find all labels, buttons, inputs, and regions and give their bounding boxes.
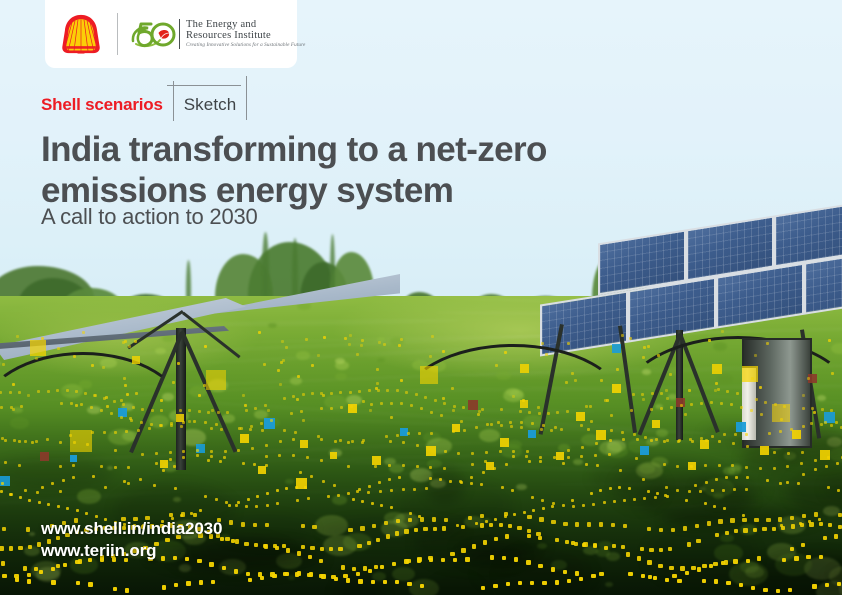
pixel-dot bbox=[159, 424, 162, 427]
pixel-dot bbox=[347, 492, 350, 495]
pixel-dot bbox=[537, 406, 540, 409]
pixel-dot bbox=[380, 565, 384, 569]
pixel-dot bbox=[113, 400, 116, 403]
pixel-dot bbox=[830, 424, 833, 427]
pixel-dot bbox=[114, 449, 117, 452]
pixel-dot bbox=[468, 516, 472, 520]
pixel-dot bbox=[141, 408, 144, 411]
pixel-dot bbox=[46, 438, 49, 441]
pixel-dot bbox=[500, 424, 503, 427]
pixel-dot bbox=[210, 450, 213, 453]
pixel-dot bbox=[814, 512, 818, 516]
pixel-square bbox=[640, 446, 649, 455]
pixel-dot bbox=[483, 540, 487, 544]
pixel-dot bbox=[63, 563, 67, 567]
pixel-dot bbox=[838, 513, 842, 517]
pixel-dot bbox=[531, 422, 534, 425]
pixel-dot bbox=[722, 489, 725, 492]
pixel-square bbox=[556, 452, 564, 460]
pixel-dot bbox=[554, 426, 557, 429]
pixel-dot bbox=[818, 518, 821, 521]
pixel-dot bbox=[718, 440, 721, 443]
pixel-dot bbox=[644, 436, 647, 439]
pixel-dot bbox=[41, 337, 44, 340]
pixel-dot bbox=[390, 489, 393, 492]
pixel-dot bbox=[648, 575, 652, 579]
pixel-dot bbox=[172, 381, 175, 384]
pixel-dot bbox=[358, 579, 362, 583]
pixel-dot bbox=[301, 524, 305, 528]
pixel-dot bbox=[380, 402, 383, 405]
pixel-dot bbox=[472, 544, 476, 548]
pixel-dot bbox=[772, 527, 776, 531]
pixel-dot bbox=[489, 523, 493, 527]
pixel-dot bbox=[265, 523, 269, 527]
pixel-dot bbox=[174, 487, 177, 490]
pixel-dot bbox=[356, 353, 359, 356]
pixel-dot bbox=[329, 547, 333, 551]
pixel-dot bbox=[563, 570, 567, 574]
pixel-dot bbox=[125, 588, 129, 592]
pixel-dot bbox=[551, 567, 555, 571]
pixel-dot bbox=[574, 379, 577, 382]
pixel-dot bbox=[346, 578, 350, 582]
pixel-dot bbox=[253, 463, 256, 466]
pixel-dot bbox=[344, 337, 347, 340]
pixel-dot bbox=[369, 409, 372, 412]
pixel-dot bbox=[429, 477, 432, 480]
pixel-dot bbox=[575, 522, 579, 526]
pixel-dot bbox=[402, 488, 405, 491]
pixel-dot bbox=[538, 564, 542, 568]
pixel-dot bbox=[560, 428, 563, 431]
pixel-dot bbox=[181, 512, 185, 516]
pixel-dot bbox=[356, 572, 360, 576]
pixel-dot bbox=[717, 388, 720, 391]
pixel-dot bbox=[241, 522, 245, 526]
pixel-dot bbox=[746, 476, 749, 479]
pixel-dot bbox=[385, 435, 388, 438]
teri-tagline: Creating Innovative Solutions for a Sust… bbox=[186, 43, 305, 49]
pixel-dot bbox=[320, 459, 323, 462]
pixel-dot bbox=[123, 377, 126, 380]
pixel-dot bbox=[266, 492, 269, 495]
pixel-dot bbox=[169, 458, 172, 461]
pixel-dot bbox=[831, 372, 834, 375]
pixel-dot bbox=[72, 476, 75, 479]
pixel-dot bbox=[541, 499, 544, 502]
pixel-dot bbox=[90, 406, 93, 409]
pixel-dot bbox=[405, 391, 408, 394]
pixel-dot bbox=[367, 541, 371, 545]
pixel-dot bbox=[461, 525, 465, 529]
pixel-square bbox=[300, 440, 308, 448]
pixel-dot bbox=[527, 534, 531, 538]
pixel-dot bbox=[261, 429, 264, 432]
pixel-dot bbox=[56, 564, 60, 568]
pixel-dot bbox=[694, 484, 697, 487]
pixel-dot bbox=[302, 419, 305, 422]
pixel-dot bbox=[704, 464, 707, 467]
pixel-dot bbox=[371, 502, 374, 505]
pixel-dot bbox=[742, 518, 746, 522]
pixel-dot bbox=[424, 396, 427, 399]
pixel-dot bbox=[196, 454, 199, 457]
pixel-dot bbox=[361, 339, 364, 342]
pixel-dot bbox=[462, 406, 465, 409]
pixel-dot bbox=[506, 582, 510, 586]
pixel-dot bbox=[442, 350, 445, 353]
pixel-dot bbox=[196, 449, 199, 452]
pixel-dot bbox=[720, 402, 723, 405]
pixel-dot bbox=[480, 523, 484, 527]
pixel-dot bbox=[320, 438, 323, 441]
pixel-dot bbox=[547, 412, 550, 415]
pixel-dot bbox=[539, 456, 542, 459]
pixel-square bbox=[528, 430, 536, 438]
teri-name-line-2: Resources Institute bbox=[186, 30, 305, 41]
pixel-dot bbox=[225, 537, 229, 541]
pixel-dot bbox=[527, 515, 531, 519]
pixel-dot bbox=[260, 422, 263, 425]
pixel-dot bbox=[327, 495, 330, 498]
pixel-dot bbox=[511, 489, 514, 492]
page-title-line-1: India transforming to a net-zero bbox=[41, 130, 601, 171]
pixel-dot bbox=[351, 440, 354, 443]
pixel-dot bbox=[417, 558, 421, 562]
pixel-dot bbox=[690, 465, 693, 468]
pixel-dot bbox=[528, 411, 531, 414]
brand-row: Shell scenarios Sketch bbox=[41, 95, 247, 115]
pixel-dot bbox=[0, 391, 2, 394]
pixel-dot bbox=[736, 392, 739, 395]
pixel-dot bbox=[640, 547, 644, 551]
pixel-dot bbox=[173, 465, 176, 468]
pixel-dot bbox=[733, 488, 736, 491]
pixel-dot bbox=[219, 460, 222, 463]
pixel-dot bbox=[726, 581, 730, 585]
pixel-dot bbox=[102, 366, 105, 369]
pixel-dot bbox=[713, 505, 716, 508]
pixel-dot bbox=[603, 501, 606, 504]
pixel-dot bbox=[481, 586, 485, 590]
pixel-dot bbox=[823, 536, 827, 540]
pixel-dot bbox=[509, 421, 512, 424]
pixel-dot bbox=[59, 490, 62, 493]
pixel-dot bbox=[690, 403, 693, 406]
pixel-dot bbox=[481, 408, 484, 411]
pixel-dot bbox=[450, 552, 454, 556]
pixel-dot bbox=[242, 394, 245, 397]
pixel-dot bbox=[696, 539, 700, 543]
pixel-dot bbox=[595, 442, 598, 445]
pixel-dot bbox=[746, 445, 749, 448]
pixel-dot bbox=[374, 565, 378, 569]
pixel-dot bbox=[429, 558, 433, 562]
pixel-dot bbox=[794, 556, 798, 560]
pixel-dot bbox=[732, 442, 735, 445]
pixel-dot bbox=[297, 551, 301, 555]
pixel-dot bbox=[207, 411, 210, 414]
pixel-dot bbox=[495, 364, 498, 367]
pixel-dot bbox=[676, 489, 679, 492]
pixel-square bbox=[206, 370, 226, 390]
pixel-dot bbox=[28, 545, 32, 549]
pixel-dot bbox=[460, 420, 463, 423]
pixel-square bbox=[40, 452, 49, 461]
pixel-dot bbox=[695, 524, 699, 528]
pixel-dot bbox=[260, 576, 264, 580]
pixel-dot bbox=[249, 428, 252, 431]
pixel-dot bbox=[238, 427, 241, 430]
pixel-square bbox=[30, 340, 46, 356]
pixel-dot bbox=[781, 526, 785, 530]
pixel-dot bbox=[494, 537, 498, 541]
pixel-dot bbox=[697, 567, 701, 571]
pixel-dot bbox=[714, 579, 718, 583]
pixel-dot bbox=[452, 409, 455, 412]
pixel-dot bbox=[396, 389, 399, 392]
pixel-dot bbox=[499, 450, 502, 453]
pixel-dot bbox=[530, 581, 534, 585]
pixel-dot bbox=[763, 588, 767, 592]
pixel-dot bbox=[837, 489, 840, 492]
pixel-dot bbox=[685, 499, 688, 502]
pixel-dot bbox=[31, 441, 34, 444]
pixel-dot bbox=[12, 383, 15, 386]
pixel-dot bbox=[368, 485, 371, 488]
pixel-dot bbox=[633, 433, 636, 436]
pixel-square bbox=[760, 446, 769, 455]
pixel-dot bbox=[470, 476, 473, 479]
pixel-dot bbox=[140, 421, 143, 424]
pixel-dot bbox=[174, 583, 178, 587]
pixel-dot bbox=[788, 588, 792, 592]
pixel-dot bbox=[18, 464, 21, 467]
pixel-dot bbox=[244, 542, 248, 546]
pixel-dot bbox=[642, 356, 645, 359]
pixel-dot bbox=[93, 394, 96, 397]
pixel-dot bbox=[376, 368, 379, 371]
pixel-dot bbox=[378, 341, 381, 344]
pixel-dot bbox=[800, 523, 804, 527]
teri-name-line-1: The Energy and bbox=[186, 19, 305, 30]
pixel-dot bbox=[386, 534, 390, 538]
pixel-dot bbox=[180, 425, 183, 428]
pixel-dot bbox=[764, 401, 767, 404]
pixel-dot bbox=[155, 452, 158, 455]
pixel-dot bbox=[297, 571, 301, 575]
pixel-dot bbox=[801, 543, 805, 547]
pixel-square bbox=[420, 366, 438, 384]
pixel-dot bbox=[683, 526, 687, 530]
pixel-dot bbox=[1, 561, 5, 565]
pixel-dot bbox=[621, 545, 625, 549]
pixel-square bbox=[520, 364, 529, 373]
pixel-dot bbox=[572, 505, 575, 508]
pixel-dot bbox=[135, 392, 138, 395]
pixel-dot bbox=[349, 334, 352, 337]
pixel-dot bbox=[376, 538, 380, 542]
pixel-dot bbox=[398, 476, 401, 479]
pixel-dot bbox=[499, 523, 503, 527]
pixel-dot bbox=[182, 456, 185, 459]
pixel-dot bbox=[608, 453, 611, 456]
pixel-dot bbox=[659, 548, 663, 552]
pixel-dot bbox=[114, 431, 117, 434]
pixel-dot bbox=[235, 504, 238, 507]
pixel-dot bbox=[680, 566, 684, 570]
pixel-square bbox=[576, 412, 585, 421]
pixel-dot bbox=[773, 467, 776, 470]
pixel-dot bbox=[471, 452, 474, 455]
pixel-dot bbox=[751, 586, 755, 590]
pixel-dot bbox=[663, 463, 666, 466]
pixel-dot bbox=[581, 446, 584, 449]
url-teri[interactable]: www.teriin.org bbox=[41, 540, 222, 562]
pixel-dot bbox=[420, 407, 423, 410]
pixel-dot bbox=[651, 392, 654, 395]
pixel-dot bbox=[599, 489, 602, 492]
pixel-dot bbox=[502, 556, 506, 560]
teri-logo-rule bbox=[179, 19, 180, 49]
pixel-dot bbox=[123, 480, 126, 483]
pixel-square bbox=[132, 356, 140, 364]
pixel-dot bbox=[802, 514, 806, 518]
pixel-dot bbox=[668, 547, 672, 551]
pixel-dot bbox=[413, 488, 416, 491]
pixel-dot bbox=[538, 536, 542, 540]
pixel-dot bbox=[500, 408, 503, 411]
pixel-dot bbox=[621, 334, 624, 337]
pixel-dot bbox=[211, 409, 214, 412]
pixel-dot bbox=[653, 576, 657, 580]
pixel-dot bbox=[618, 486, 621, 489]
pixel-dot bbox=[587, 428, 590, 431]
pixel-dot bbox=[582, 504, 585, 507]
pixel-square bbox=[258, 466, 266, 474]
pixel-dot bbox=[802, 425, 805, 428]
pixel-dot bbox=[248, 578, 252, 582]
pixel-dot bbox=[760, 413, 763, 416]
pixel-dot bbox=[665, 389, 668, 392]
pixel-dot bbox=[730, 518, 734, 522]
pixel-dot bbox=[745, 488, 748, 491]
pixel-dot bbox=[256, 495, 259, 498]
pixel-dot bbox=[442, 526, 446, 530]
pixel-dot bbox=[733, 559, 737, 563]
pixel-dot bbox=[226, 411, 229, 414]
pixel-dot bbox=[751, 377, 754, 380]
pixel-dot bbox=[666, 397, 669, 400]
pixel-dot bbox=[16, 335, 19, 338]
pixel-dot bbox=[518, 581, 522, 585]
pixel-dot bbox=[396, 519, 400, 523]
pixel-dot bbox=[283, 429, 286, 432]
pixel-dot bbox=[334, 440, 337, 443]
pixel-dot bbox=[69, 434, 72, 437]
pixel-dot bbox=[215, 423, 218, 426]
pixel-dot bbox=[650, 439, 653, 442]
pixel-dot bbox=[551, 505, 554, 508]
sketch-label: Sketch bbox=[184, 95, 237, 114]
pixel-dot bbox=[555, 538, 559, 542]
pixel-dot bbox=[92, 475, 95, 478]
pixel-dot bbox=[786, 465, 789, 468]
pixel-dot bbox=[322, 480, 325, 483]
pixel-dot bbox=[279, 383, 282, 386]
pixel-dot bbox=[125, 430, 128, 433]
pixel-dot bbox=[276, 489, 279, 492]
pixel-dot bbox=[292, 438, 295, 441]
pixel-dot bbox=[348, 528, 352, 532]
logo-card: The Energy and Resources Institute Creat… bbox=[45, 0, 297, 68]
pixel-dot bbox=[404, 529, 408, 533]
pixel-dot bbox=[545, 353, 548, 356]
pixel-dot bbox=[400, 379, 403, 382]
pixel-dot bbox=[203, 384, 206, 387]
pixel-dot bbox=[587, 522, 591, 526]
pixel-dot bbox=[188, 420, 191, 423]
pixel-dot bbox=[582, 543, 586, 547]
pixel-dot bbox=[517, 526, 521, 530]
report-cover: The Energy and Resources Institute Creat… bbox=[0, 0, 842, 595]
pixel-dot bbox=[485, 451, 488, 454]
pixel-dot bbox=[643, 346, 646, 349]
pixel-dot bbox=[100, 465, 103, 468]
pixel-dot bbox=[0, 406, 3, 409]
pixel-dot bbox=[333, 484, 336, 487]
pixel-dot bbox=[395, 580, 399, 584]
pixel-dot bbox=[360, 526, 364, 530]
pixel-dot bbox=[609, 439, 612, 442]
pixel-dot bbox=[768, 432, 771, 435]
pixel-dot bbox=[320, 407, 323, 410]
pixel-dot bbox=[215, 498, 218, 501]
pixel-dot bbox=[127, 482, 130, 485]
pixel-dot bbox=[198, 410, 201, 413]
pixel-dot bbox=[350, 405, 353, 408]
url-shell[interactable]: www.shell.in/india2030 bbox=[41, 518, 222, 540]
pixel-dot bbox=[655, 438, 658, 441]
pixel-dot bbox=[819, 522, 823, 526]
pixel-dot bbox=[565, 540, 569, 544]
pixel-dot bbox=[255, 505, 258, 508]
pixel-dot bbox=[281, 340, 284, 343]
pixel-dot bbox=[277, 369, 280, 372]
pixel-dot bbox=[390, 506, 393, 509]
pixel-dot bbox=[24, 440, 27, 443]
pixel-dot bbox=[36, 491, 39, 494]
pixel-dot bbox=[825, 583, 829, 587]
pixel-dot bbox=[275, 546, 279, 550]
pixel-dot bbox=[797, 482, 800, 485]
pixel-dot bbox=[776, 589, 780, 593]
pixel-dot bbox=[302, 393, 305, 396]
pixel-dot bbox=[787, 452, 790, 455]
pixel-dot bbox=[368, 389, 371, 392]
pixel-dot bbox=[317, 354, 320, 357]
pixel-dot bbox=[774, 403, 777, 406]
pixel-dot bbox=[360, 344, 363, 347]
pixel-dot bbox=[828, 523, 832, 527]
crop-mark-top bbox=[167, 85, 241, 86]
pixel-dot bbox=[672, 574, 676, 578]
pixel-dot bbox=[791, 524, 795, 528]
pixel-dot bbox=[642, 478, 645, 481]
pixel-dot bbox=[211, 580, 215, 584]
pixel-dot bbox=[234, 569, 238, 573]
